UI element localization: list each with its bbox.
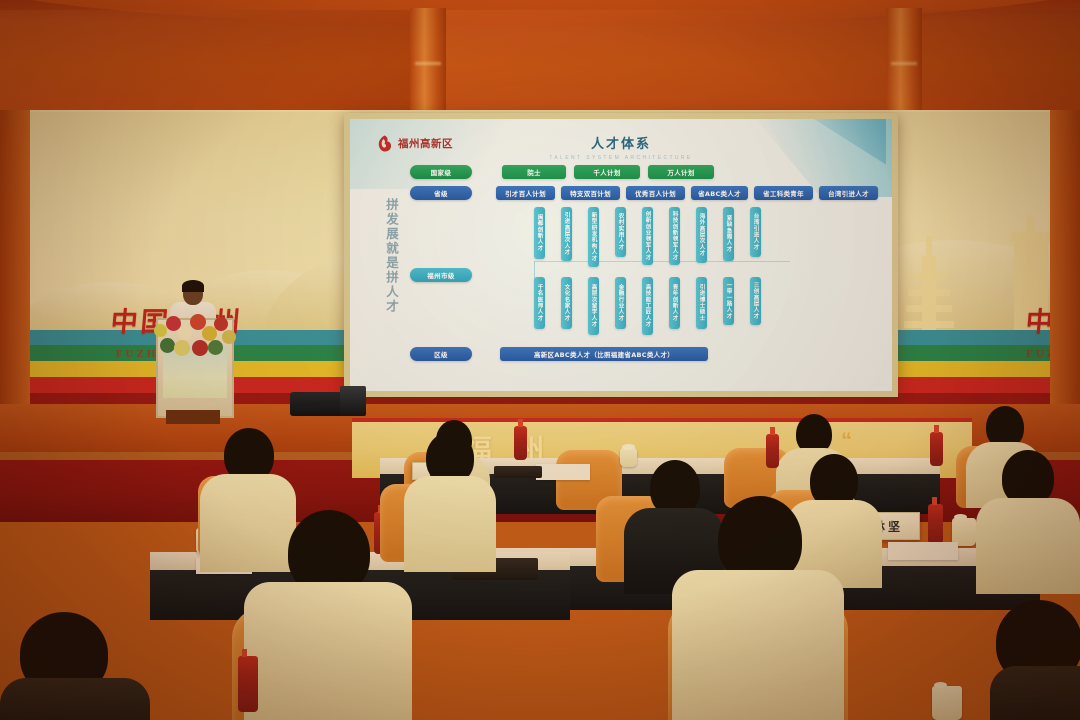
vignette-overlay bbox=[0, 0, 1080, 720]
conference-photo: 中国·福州 FUZHOU CHINA 中国·福州 FUZHOU CHINA 福州… bbox=[0, 0, 1080, 720]
